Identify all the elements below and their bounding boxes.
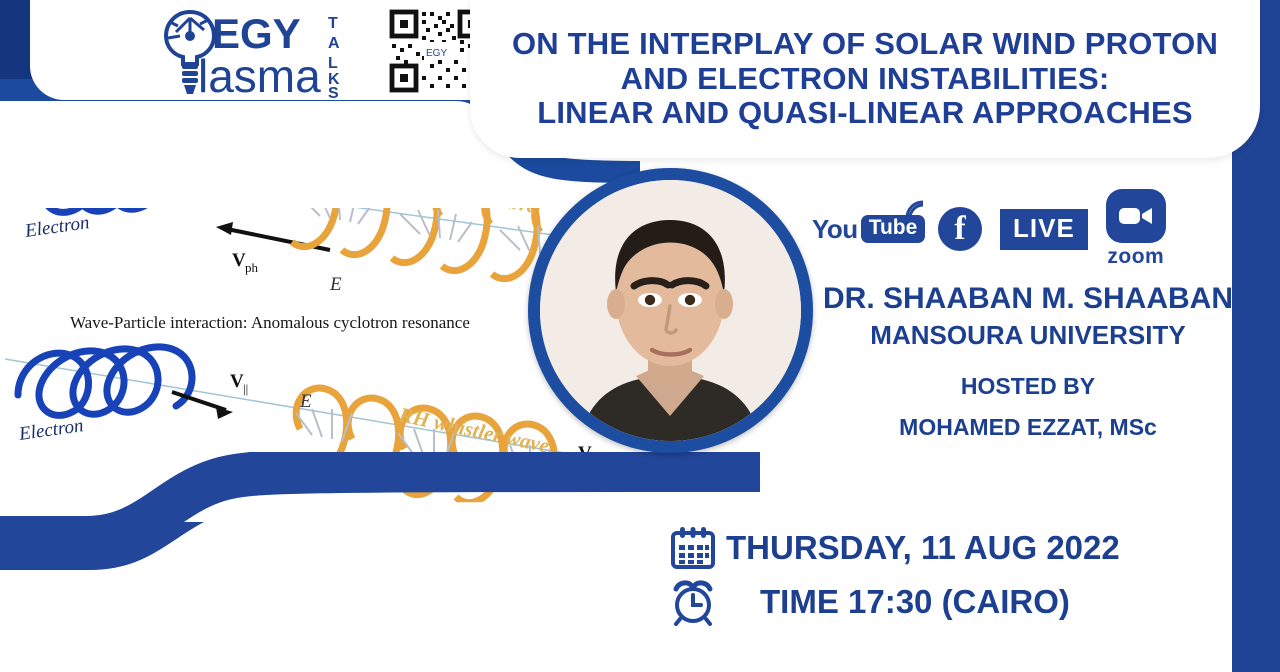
title-line-1: ON THE INTERPLAY OF SOLAR WIND PROTON	[512, 27, 1218, 62]
speaker-details: DR. SHAABAN M. SHAABAN MANSOURA UNIVERSI…	[790, 282, 1266, 441]
speaker-affiliation: MANSOURA UNIVERSITY	[790, 319, 1266, 352]
broadcast-wave-icon	[904, 199, 926, 221]
svg-text:V: V	[232, 250, 246, 271]
talk-title-card: ON THE INTERPLAY OF SOLAR WIND PROTON AN…	[470, 0, 1260, 158]
title-line-3: LINEAR AND QUASI-LINEAR APPROACHES	[537, 96, 1193, 131]
webinar-poster: Wave-Particle interaction: Normal cyclot…	[0, 0, 1280, 672]
host-name: MOHAMED EZZAT, MSc	[790, 414, 1266, 441]
facebook-logo[interactable]: f	[938, 207, 982, 251]
svg-text:||: ||	[243, 381, 248, 396]
zoom-camera-icon	[1106, 189, 1166, 243]
svg-text:A: A	[328, 35, 340, 52]
broadcast-platforms: You Tube f LIVE zoom	[812, 186, 1172, 272]
youtube-logo[interactable]: You Tube	[812, 209, 920, 249]
alarm-clock-icon	[660, 578, 726, 626]
svg-text:EGY: EGY	[426, 48, 447, 59]
event-date: THURSDAY, 11 AUG 2022	[726, 529, 1120, 567]
label-E-field: E	[299, 391, 312, 412]
youtube-you-text: You	[812, 214, 858, 245]
svg-text:V: V	[230, 371, 244, 392]
speaker-name: DR. SHAABAN M. SHAABAN	[790, 282, 1266, 317]
speaker-avatar	[528, 168, 813, 453]
label-rh-whistler-wave: RH whistler wave	[396, 402, 551, 457]
zoom-logo[interactable]: zoom	[1106, 189, 1166, 269]
label-electron: Electron	[23, 212, 91, 242]
svg-text:ph: ph	[245, 260, 259, 275]
svg-text:T: T	[328, 15, 338, 32]
schedule-time-row: TIME 17:30 (CAIRO)	[660, 578, 1260, 626]
schedule-date-row: THURSDAY, 11 AUG 2022	[660, 524, 1260, 572]
schedule-block: THURSDAY, 11 AUG 2022 TIME 17:30 (CAIRO)	[660, 524, 1260, 632]
bottom-s-curve-divider	[0, 452, 760, 672]
calendar-icon	[660, 524, 726, 572]
facebook-f-icon: f	[938, 207, 982, 251]
title-line-2: AND ELECTRON INSTABILITIES:	[621, 62, 1110, 97]
svg-text:S: S	[328, 85, 339, 98]
hosted-by-label: HOSTED BY	[790, 373, 1266, 400]
svg-text:L: L	[328, 55, 338, 72]
speaker-photo	[540, 180, 801, 441]
logo-lasma-text: lasma	[198, 50, 321, 98]
label-E-field: E	[329, 274, 342, 295]
zoom-wordmark: zoom	[1107, 245, 1164, 269]
egy-plasma-logo[interactable]: EGY lasma T A L K S	[156, 6, 361, 98]
label-electron: Electron	[17, 415, 85, 445]
live-badge: LIVE	[1000, 209, 1088, 250]
event-time: TIME 17:30 (CAIRO)	[760, 583, 1070, 621]
